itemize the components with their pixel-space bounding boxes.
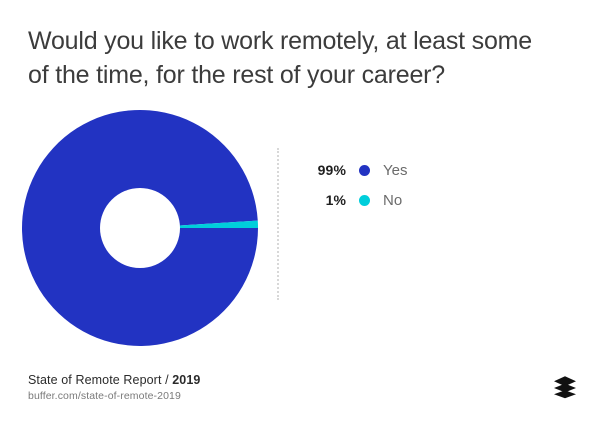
legend-percent-yes: 99%: [304, 162, 346, 178]
page-title: Would you like to work remotely, at leas…: [28, 24, 548, 92]
legend-label-no: No: [383, 192, 402, 209]
chart-legend-divider: [277, 148, 279, 300]
legend-swatch-yes-icon: [359, 165, 370, 176]
footer-report-title: State of Remote Report / 2019: [28, 373, 428, 387]
footer-report-year: 2019: [172, 373, 200, 387]
legend-label-yes: Yes: [383, 162, 407, 179]
legend-item-no[interactable]: 1% No: [304, 185, 484, 215]
donut-hole: [100, 188, 180, 268]
legend-swatch-no-icon: [359, 195, 370, 206]
legend-item-yes[interactable]: 99% Yes: [304, 155, 484, 185]
footer-report-name: State of Remote Report /: [28, 373, 172, 387]
footer: State of Remote Report / 2019 buffer.com…: [28, 373, 428, 402]
footer-url[interactable]: buffer.com/state-of-remote-2019: [28, 390, 428, 402]
donut-chart-svg: [21, 109, 259, 347]
slide-canvas: Would you like to work remotely, at leas…: [0, 0, 600, 424]
donut-chart: [21, 109, 259, 347]
legend-percent-no: 1%: [304, 192, 346, 208]
chart-legend: 99% Yes 1% No: [304, 155, 484, 215]
buffer-logo-svg: [552, 374, 578, 400]
chart-area: 99% Yes 1% No: [0, 100, 600, 350]
buffer-logo-icon: [552, 374, 578, 400]
